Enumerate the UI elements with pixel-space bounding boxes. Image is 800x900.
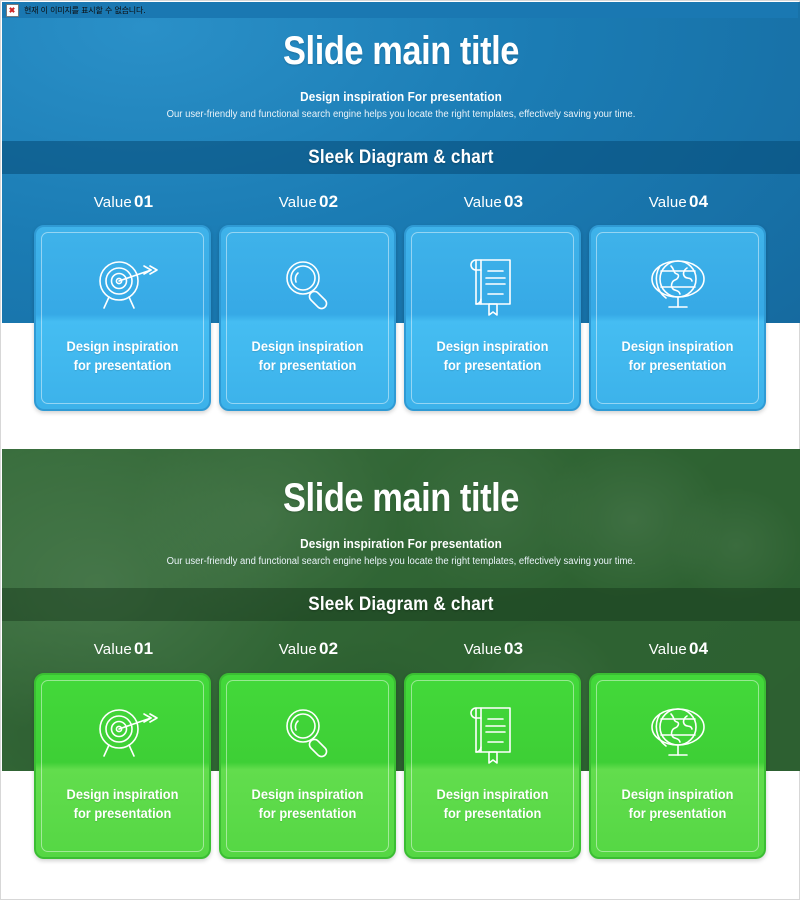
card-row-blue: Design inspiration for presentation Desi…	[34, 225, 766, 411]
value-number: 03	[504, 639, 523, 658]
broken-image-notice: 현재 이 이미지를 표시할 수 없습니다.	[2, 2, 798, 18]
card-text-line1: Design inspiration	[603, 785, 752, 804]
value-number: 01	[134, 192, 153, 211]
value-word: Value	[279, 641, 317, 658]
card-text-line1: Design inspiration	[48, 785, 197, 804]
magnifier-icon	[221, 249, 394, 321]
slide-preview-page: 현재 이 이미지를 표시할 수 없습니다. Slide main title D…	[0, 0, 800, 900]
card-value-02[interactable]: Design inspiration for presentation	[219, 673, 396, 859]
card-value-02[interactable]: Design inspiration for presentation	[219, 225, 396, 411]
card-text-value-02: Design inspiration for presentation	[233, 337, 382, 375]
globe-stand-icon	[591, 697, 764, 769]
card-text-value-04: Design inspiration for presentation	[603, 337, 752, 375]
book-bookmark-icon	[406, 249, 579, 321]
card-text-line2: for presentation	[48, 356, 197, 375]
value-number: 01	[134, 639, 153, 658]
card-text-value-01: Design inspiration for presentation	[48, 337, 197, 375]
card-row-green: Design inspiration for presentation Desi…	[34, 673, 766, 859]
section-band: Sleek Diagram & chart	[2, 141, 800, 174]
value-number: 02	[319, 639, 338, 658]
value-label-02: Value02	[220, 192, 397, 218]
card-text-line1: Design inspiration	[233, 337, 382, 356]
card-text-line1: Design inspiration	[603, 337, 752, 356]
card-text-line1: Design inspiration	[233, 785, 382, 804]
value-number: 03	[504, 192, 523, 211]
card-text-value-02: Design inspiration for presentation	[233, 785, 382, 823]
value-word: Value	[649, 641, 687, 658]
book-bookmark-icon	[406, 697, 579, 769]
section-band: Sleek Diagram & chart	[2, 588, 800, 621]
card-value-04[interactable]: Design inspiration for presentation	[589, 673, 766, 859]
broken-image-notice-text: 현재 이 이미지를 표시할 수 없습니다.	[24, 5, 145, 16]
card-value-03[interactable]: Design inspiration for presentation	[404, 673, 581, 859]
value-number: 02	[319, 192, 338, 211]
slide-subtitle: Design inspiration For presentation	[26, 90, 776, 104]
value-label-row: Value01 Value02 Value03 Value04	[35, 192, 767, 218]
magnifier-icon	[221, 697, 394, 769]
card-text-line2: for presentation	[48, 804, 197, 823]
card-text-line2: for presentation	[418, 804, 567, 823]
page-title: Slide main title	[58, 29, 744, 73]
target-arrow-icon	[36, 697, 209, 769]
card-text-line2: for presentation	[603, 356, 752, 375]
globe-stand-icon	[591, 249, 764, 321]
section-band-title: Sleek Diagram & chart	[308, 147, 493, 169]
card-text-line2: for presentation	[233, 804, 382, 823]
card-text-line2: for presentation	[233, 356, 382, 375]
card-text-line1: Design inspiration	[418, 337, 567, 356]
section-band-title: Sleek Diagram & chart	[308, 594, 493, 616]
value-label-02: Value02	[220, 639, 397, 665]
card-text-value-03: Design inspiration for presentation	[418, 337, 567, 375]
value-label-03: Value03	[405, 639, 582, 665]
card-value-03[interactable]: Design inspiration for presentation	[404, 225, 581, 411]
card-text-value-01: Design inspiration for presentation	[48, 785, 197, 823]
card-value-04[interactable]: Design inspiration for presentation	[589, 225, 766, 411]
slide-subtitle: Design inspiration For presentation	[26, 537, 776, 551]
value-label-04: Value04	[590, 639, 767, 665]
broken-image-icon	[6, 4, 19, 17]
value-word: Value	[649, 194, 687, 211]
target-arrow-icon	[36, 249, 209, 321]
value-word: Value	[94, 194, 132, 211]
value-word: Value	[464, 194, 502, 211]
card-text-line1: Design inspiration	[48, 337, 197, 356]
value-word: Value	[94, 641, 132, 658]
card-text-line1: Design inspiration	[418, 785, 567, 804]
card-text-line2: for presentation	[418, 356, 567, 375]
value-label-01: Value01	[35, 639, 212, 665]
value-label-row: Value01 Value02 Value03 Value04	[35, 639, 767, 665]
value-word: Value	[279, 194, 317, 211]
value-word: Value	[464, 641, 502, 658]
slide-description: Our user-friendly and functional search …	[22, 556, 780, 567]
value-label-01: Value01	[35, 192, 212, 218]
value-number: 04	[689, 192, 708, 211]
card-text-value-03: Design inspiration for presentation	[418, 785, 567, 823]
value-label-03: Value03	[405, 192, 582, 218]
value-number: 04	[689, 639, 708, 658]
value-label-04: Value04	[590, 192, 767, 218]
card-value-01[interactable]: Design inspiration for presentation	[34, 673, 211, 859]
slide-description: Our user-friendly and functional search …	[22, 109, 780, 120]
page-title: Slide main title	[58, 476, 744, 520]
card-text-value-04: Design inspiration for presentation	[603, 785, 752, 823]
card-text-line2: for presentation	[603, 804, 752, 823]
card-value-01[interactable]: Design inspiration for presentation	[34, 225, 211, 411]
